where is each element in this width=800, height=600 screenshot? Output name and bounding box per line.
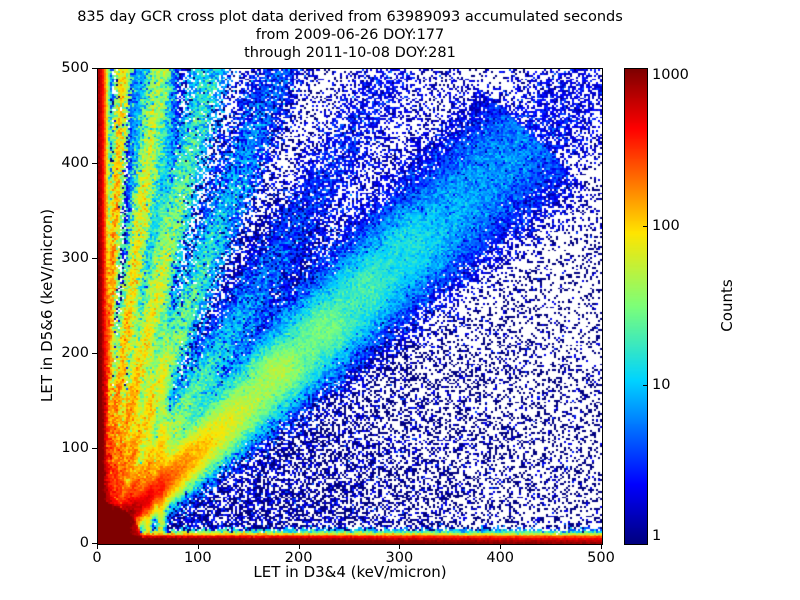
y-tick-mark: [92, 543, 97, 544]
y-tick-mark: [92, 163, 97, 164]
y-tick-mark: [92, 258, 97, 259]
chart-title-line-1: 835 day GCR cross plot data derived from…: [0, 8, 700, 26]
colorbar-gradient: [625, 69, 647, 544]
x-tick-mark: [97, 544, 98, 549]
colorbar-tick-mark: [643, 226, 648, 227]
colorbar-tick-label: 1: [652, 528, 661, 544]
y-tick-mark: [92, 448, 97, 449]
figure-root: 835 day GCR cross plot data derived from…: [0, 0, 800, 600]
x-tick-mark: [299, 544, 300, 549]
colorbar-tick-label: 100: [652, 218, 680, 234]
y-axis-label: LET in D5&6 (keV/micron): [38, 68, 56, 543]
colorbar-tick-label: 10: [652, 377, 670, 393]
plot-area: [97, 68, 603, 545]
colorbar-label: Counts: [718, 68, 736, 543]
x-axis-label: LET in D3&4 (keV/micron): [97, 563, 603, 581]
colorbar-tick-mark: [643, 385, 648, 386]
y-tick-mark: [92, 353, 97, 354]
chart-title: 835 day GCR cross plot data derived from…: [0, 8, 700, 62]
x-tick-mark: [198, 544, 199, 549]
x-tick-mark: [399, 544, 400, 549]
x-tick-mark: [500, 544, 501, 549]
chart-title-line-3: through 2011-10-08 DOY:281: [0, 44, 700, 62]
x-tick-mark: [601, 544, 602, 549]
chart-title-line-2: from 2009-06-26 DOY:177: [0, 26, 700, 44]
colorbar: [624, 68, 648, 545]
density-heatmap-canvas: [98, 69, 602, 544]
colorbar-tick-label: 1000: [652, 67, 689, 83]
y-tick-mark: [92, 68, 97, 69]
